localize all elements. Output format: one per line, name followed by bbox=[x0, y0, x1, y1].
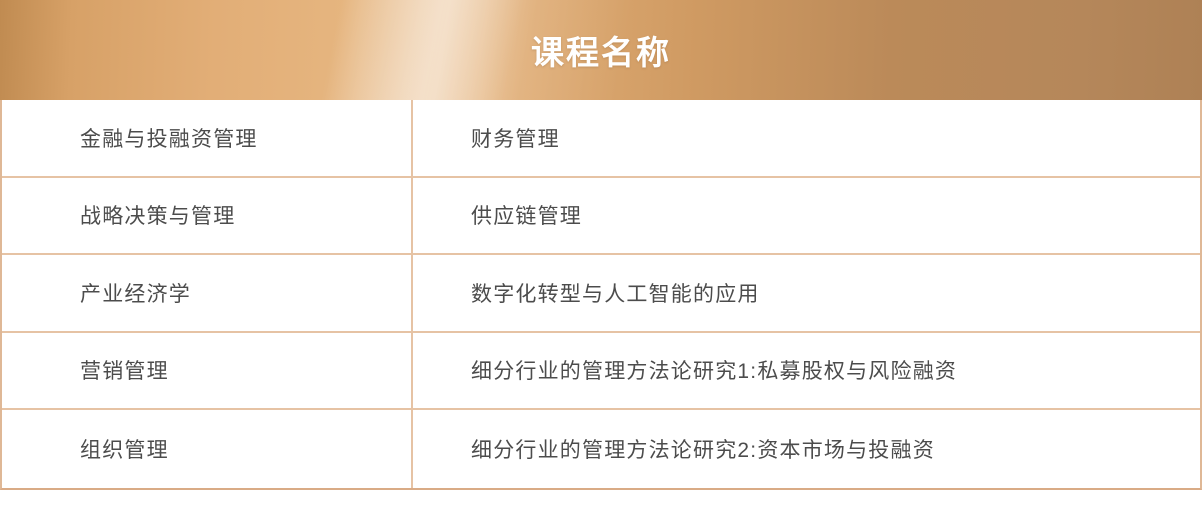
table-row: 产业经济学 数字化转型与人工智能的应用 bbox=[2, 255, 1200, 333]
table-row: 营销管理 细分行业的管理方法论研究1:私募股权与风险融资 bbox=[2, 333, 1200, 411]
table-body: 金融与投融资管理 财务管理 战略决策与管理 供应链管理 产业经济学 数字化转型与… bbox=[0, 100, 1202, 490]
page-title: 课程名称 bbox=[0, 0, 1202, 100]
course-cell-left: 产业经济学 bbox=[2, 255, 413, 331]
course-cell-left: 金融与投融资管理 bbox=[2, 100, 413, 176]
course-cell-right: 细分行业的管理方法论研究1:私募股权与风险融资 bbox=[413, 333, 1200, 409]
table-row: 战略决策与管理 供应链管理 bbox=[2, 178, 1200, 256]
course-cell-left: 组织管理 bbox=[2, 410, 413, 488]
course-cell-right: 数字化转型与人工智能的应用 bbox=[413, 255, 1200, 331]
course-cell-left: 战略决策与管理 bbox=[2, 178, 413, 254]
course-cell-right: 供应链管理 bbox=[413, 178, 1200, 254]
table-row: 金融与投融资管理 财务管理 bbox=[2, 100, 1200, 178]
course-cell-right: 财务管理 bbox=[413, 100, 1200, 176]
course-table: 课程名称 金融与投融资管理 财务管理 战略决策与管理 供应链管理 产业经济学 数… bbox=[0, 0, 1202, 510]
table-row: 组织管理 细分行业的管理方法论研究2:资本市场与投融资 bbox=[2, 410, 1200, 488]
course-cell-left: 营销管理 bbox=[2, 333, 413, 409]
course-cell-right: 细分行业的管理方法论研究2:资本市场与投融资 bbox=[413, 410, 1200, 488]
table-header-banner: 课程名称 bbox=[0, 0, 1202, 100]
